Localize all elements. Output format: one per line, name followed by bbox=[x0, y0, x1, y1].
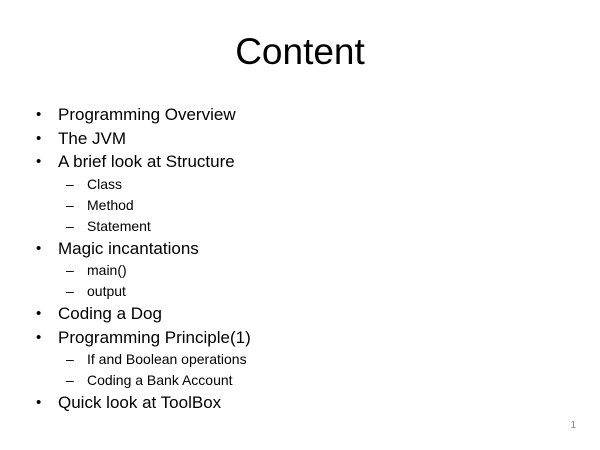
list-item-label: A brief look at Structure bbox=[58, 152, 235, 171]
dash-marker-icon: – bbox=[66, 216, 74, 237]
bullet-marker-icon: • bbox=[36, 127, 41, 151]
sub-list-item-label: Class bbox=[87, 176, 122, 192]
bullet-marker-icon: • bbox=[36, 150, 41, 174]
dash-marker-icon: – bbox=[66, 281, 74, 302]
list-item-label: Coding a Dog bbox=[58, 304, 162, 323]
list-item-label: The JVM bbox=[58, 129, 126, 148]
list-item-label: Programming Principle(1) bbox=[58, 328, 251, 347]
sub-list-item: – If and Boolean operations bbox=[30, 349, 570, 370]
sub-list-item: – main() bbox=[30, 260, 570, 281]
bullet-marker-icon: • bbox=[36, 237, 41, 261]
sub-list-item: – output bbox=[30, 281, 570, 302]
sub-list-item-label: Statement bbox=[87, 218, 151, 234]
content-outline: • Programming Overview • The JVM • A bri… bbox=[30, 103, 570, 415]
bullet-marker-icon: • bbox=[36, 103, 41, 127]
sub-list-item-label: output bbox=[87, 283, 126, 299]
sub-list-item: – Method bbox=[30, 195, 570, 216]
sub-list-item: – Class bbox=[30, 174, 570, 195]
list-item-label: Magic incantations bbox=[58, 239, 199, 258]
list-item: • A brief look at Structure bbox=[30, 150, 570, 174]
list-item: • Programming Overview bbox=[30, 103, 570, 127]
list-item-label: Programming Overview bbox=[58, 105, 236, 124]
bullet-marker-icon: • bbox=[36, 326, 41, 350]
list-item: • Programming Principle(1) bbox=[30, 326, 570, 350]
sub-list-item-label: Method bbox=[87, 197, 134, 213]
list-item: • Coding a Dog bbox=[30, 302, 570, 326]
dash-marker-icon: – bbox=[66, 174, 74, 195]
page-title: Content bbox=[0, 30, 600, 74]
sub-list-item: – Statement bbox=[30, 216, 570, 237]
bullet-marker-icon: • bbox=[36, 391, 41, 415]
dash-marker-icon: – bbox=[66, 260, 74, 281]
list-item: • The JVM bbox=[30, 127, 570, 151]
sub-list-item-label: main() bbox=[87, 262, 127, 278]
slide: Content • Programming Overview • The JVM… bbox=[0, 0, 600, 450]
sub-list-item: – Coding a Bank Account bbox=[30, 370, 570, 391]
dash-marker-icon: – bbox=[66, 370, 74, 391]
sub-list-item-label: If and Boolean operations bbox=[87, 351, 247, 367]
dash-marker-icon: – bbox=[66, 195, 74, 216]
list-item: • Magic incantations bbox=[30, 237, 570, 261]
list-item: • Quick look at ToolBox bbox=[30, 391, 570, 415]
sub-list-item-label: Coding a Bank Account bbox=[87, 372, 233, 388]
list-item-label: Quick look at ToolBox bbox=[58, 393, 221, 412]
bullet-marker-icon: • bbox=[36, 302, 41, 326]
slide-number: 1 bbox=[570, 420, 576, 432]
dash-marker-icon: – bbox=[66, 349, 74, 370]
